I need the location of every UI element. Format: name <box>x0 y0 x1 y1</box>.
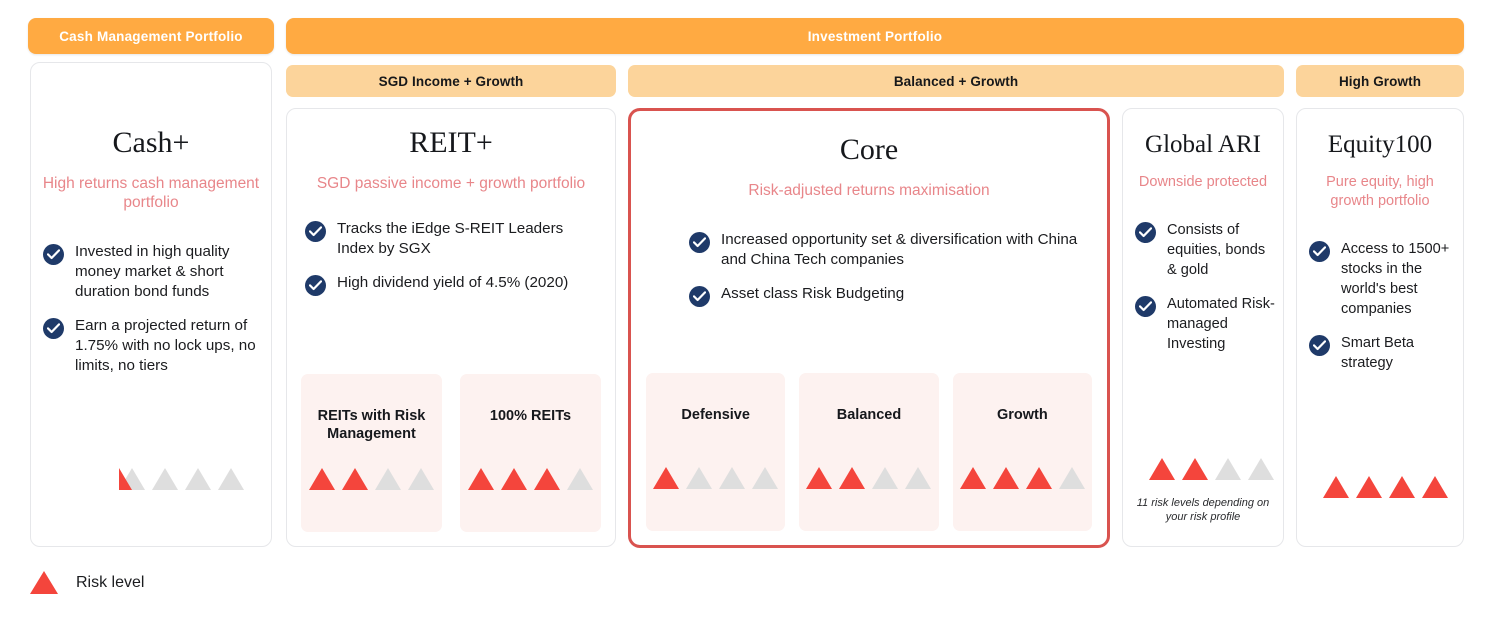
list-item-label: Asset class Risk Budgeting <box>721 284 904 304</box>
subheader-balanced-growth: Balanced + Growth <box>628 65 1284 97</box>
risk-triangle-icon <box>719 467 745 489</box>
feature-list: Access to 1500+ stocks in the world's be… <box>1297 239 1463 373</box>
list-item: High dividend yield of 4.5% (2020) <box>305 273 601 296</box>
risk-triangle-icon <box>993 467 1019 489</box>
risk-triangle-icon <box>839 467 865 489</box>
check-circle-icon <box>305 221 326 242</box>
risk-triangle-icon <box>1215 458 1241 480</box>
risk-triangle-icon <box>1389 476 1415 498</box>
risk-triangle-icon <box>152 468 178 490</box>
card-title: Cash+ <box>31 126 271 160</box>
risk-meter <box>1323 476 1448 498</box>
risk-triangle-icon <box>1323 476 1349 498</box>
risk-meter <box>468 468 593 490</box>
banner-row: Cash Management Portfolio Investment Por… <box>0 18 1496 54</box>
feature-list: Invested in high quality money market & … <box>31 242 271 376</box>
risk-triangle-icon <box>1248 458 1274 480</box>
list-item-label: Automated Risk-managed Investing <box>1167 294 1275 354</box>
risk-triangle-icon <box>1356 476 1382 498</box>
check-circle-icon <box>43 318 64 339</box>
risk-meter <box>1149 458 1274 480</box>
risk-meter <box>309 468 434 490</box>
risk-triangle-icon <box>905 467 931 489</box>
list-item: Access to 1500+ stocks in the world's be… <box>1309 239 1455 319</box>
card-reit-plus[interactable]: REIT+ SGD passive income + growth portfo… <box>286 108 616 547</box>
risk-triangle-icon <box>686 467 712 489</box>
risk-meter <box>960 467 1085 489</box>
card-subtitle: Pure equity, high growth portfolio <box>1297 173 1463 211</box>
tile-label: Balanced <box>837 406 901 424</box>
list-item: Asset class Risk Budgeting <box>689 284 1087 307</box>
risk-triangle-icon <box>1422 476 1448 498</box>
tile-balanced[interactable]: Balanced <box>799 373 938 531</box>
banner-investment-portfolio: Investment Portfolio <box>286 18 1464 54</box>
risk-levels-note: 11 risk levels depending on your risk pr… <box>1131 496 1275 524</box>
legend-label: Risk level <box>76 574 144 592</box>
risk-triangle-icon <box>567 468 593 490</box>
list-item-label: Access to 1500+ stocks in the world's be… <box>1341 239 1455 319</box>
tile-defensive[interactable]: Defensive <box>646 373 785 531</box>
list-item-label: Earn a projected return of 1.75% with no… <box>75 316 257 376</box>
tile-100-percent-reits[interactable]: 100% REITs <box>460 374 601 532</box>
banner-cash-management: Cash Management Portfolio <box>28 18 274 54</box>
check-circle-icon <box>43 244 64 265</box>
list-item-label: Invested in high quality money market & … <box>75 242 257 302</box>
risk-triangle-icon <box>653 467 679 489</box>
list-item: Earn a projected return of 1.75% with no… <box>43 316 257 376</box>
card-subtitle: SGD passive income + growth portfolio <box>287 174 615 193</box>
list-item-label: Tracks the iEdge S-REIT Leaders Index by… <box>337 219 601 259</box>
risk-triangle-icon <box>534 468 560 490</box>
list-item: Invested in high quality money market & … <box>43 242 257 302</box>
tile-label: Growth <box>997 406 1048 424</box>
list-item-label: High dividend yield of 4.5% (2020) <box>337 273 568 293</box>
list-item: Automated Risk-managed Investing <box>1135 294 1275 354</box>
risk-triangle-icon <box>408 468 434 490</box>
legend: Risk level <box>30 571 144 594</box>
risk-triangle-icon <box>375 468 401 490</box>
list-item-label: Consists of equities, bonds & gold <box>1167 220 1275 280</box>
risk-triangle-icon <box>806 467 832 489</box>
subportfolio-tiles: Defensive Balanced Growth <box>646 373 1092 531</box>
card-cash-plus[interactable]: Cash+ High returns cash management portf… <box>30 62 272 547</box>
subheader-sgd-income-growth: SGD Income + Growth <box>286 65 616 97</box>
risk-triangle-icon <box>1182 458 1208 480</box>
check-circle-icon <box>689 286 710 307</box>
tile-reits-with-risk-management[interactable]: REITs with Risk Management <box>301 374 442 532</box>
card-title: Global ARI <box>1123 131 1283 159</box>
portfolio-comparison-page: Cash Management Portfolio Investment Por… <box>0 0 1496 634</box>
risk-triangle-icon <box>185 468 211 490</box>
subportfolio-tiles: REITs with Risk Management 100% REITs <box>301 374 601 532</box>
card-title: Equity100 <box>1297 131 1463 159</box>
list-item-label: Increased opportunity set & diversificat… <box>721 230 1087 270</box>
card-title: REIT+ <box>287 126 615 160</box>
risk-triangle-icon <box>872 467 898 489</box>
risk-triangle-icon <box>752 467 778 489</box>
tile-label: Defensive <box>681 406 750 424</box>
risk-meter <box>653 467 778 489</box>
list-item: Tracks the iEdge S-REIT Leaders Index by… <box>305 219 601 259</box>
risk-triangle-icon <box>342 468 368 490</box>
check-circle-icon <box>1135 222 1156 243</box>
risk-triangle-icon <box>119 468 145 490</box>
tile-label: 100% REITs <box>490 407 571 425</box>
card-subtitle: High returns cash management portfolio <box>31 174 271 212</box>
risk-triangle-icon <box>218 468 244 490</box>
list-item: Consists of equities, bonds & gold <box>1135 220 1275 280</box>
risk-triangle-icon <box>30 571 58 594</box>
feature-list: Consists of equities, bonds & gold Autom… <box>1123 220 1283 354</box>
risk-triangle-icon <box>1026 467 1052 489</box>
check-circle-icon <box>1309 335 1330 356</box>
list-item: Smart Beta strategy <box>1309 333 1455 373</box>
card-subtitle: Downside protected <box>1123 173 1283 192</box>
risk-meter <box>806 467 931 489</box>
risk-triangle-icon <box>960 467 986 489</box>
risk-triangle-icon <box>1149 458 1175 480</box>
card-core[interactable]: Core Risk-adjusted returns maximisation … <box>628 108 1110 548</box>
risk-triangle-icon <box>1059 467 1085 489</box>
risk-triangle-icon <box>309 468 335 490</box>
card-global-ari[interactable]: Global ARI Downside protected Consists o… <box>1122 108 1284 547</box>
card-title: Core <box>631 133 1107 167</box>
feature-list: Increased opportunity set & diversificat… <box>631 230 1107 307</box>
check-circle-icon <box>1135 296 1156 317</box>
card-equity100[interactable]: Equity100 Pure equity, high growth portf… <box>1296 108 1464 547</box>
check-circle-icon <box>305 275 326 296</box>
risk-triangle-icon <box>468 468 494 490</box>
tile-label: REITs with Risk Management <box>301 407 442 443</box>
list-item: Increased opportunity set & diversificat… <box>689 230 1087 270</box>
check-circle-icon <box>1309 241 1330 262</box>
check-circle-icon <box>689 232 710 253</box>
list-item-label: Smart Beta strategy <box>1341 333 1455 373</box>
feature-list: Tracks the iEdge S-REIT Leaders Index by… <box>287 219 615 296</box>
card-subtitle: Risk-adjusted returns maximisation <box>631 181 1107 200</box>
risk-triangle-icon <box>501 468 527 490</box>
tile-growth[interactable]: Growth <box>953 373 1092 531</box>
subheader-high-growth: High Growth <box>1296 65 1464 97</box>
risk-meter <box>119 468 244 490</box>
